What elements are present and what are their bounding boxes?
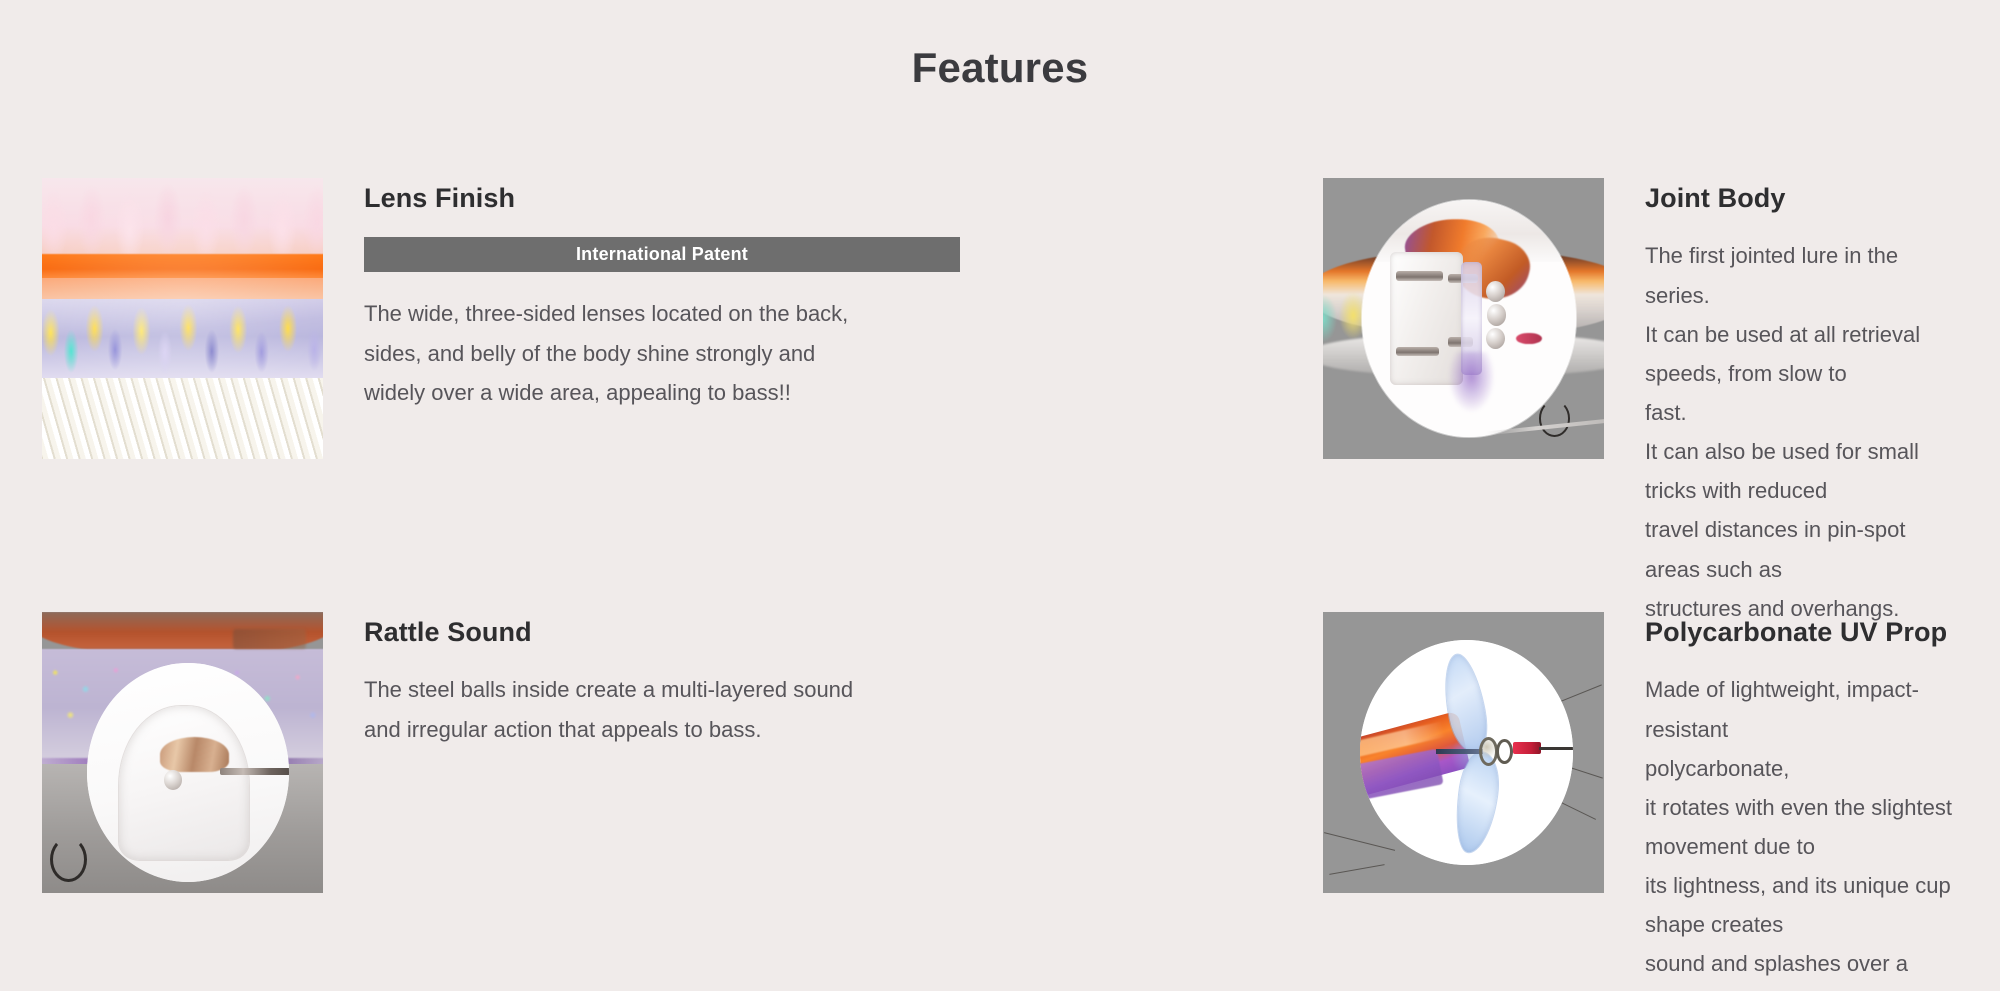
joint-red-marking	[1516, 333, 1542, 345]
feature-card-lens-finish: Lens Finish International Patent The wid…	[42, 178, 1323, 612]
lens-finish-image	[42, 178, 323, 459]
lens-highlight-overlay	[42, 178, 323, 459]
joint-ball	[1486, 281, 1505, 302]
feature-description: The steel balls inside create a multi-la…	[364, 670, 964, 748]
lens-finish-image-inner	[42, 178, 323, 459]
description-line: sides, and belly of the body shine stron…	[364, 334, 964, 373]
description-line: Made of lightweight, impact-resistant	[1645, 670, 1958, 748]
description-line: it rotates with even the slightest movem…	[1645, 788, 1958, 866]
description-line: sound and splashes over a wide area, app…	[1645, 944, 1958, 991]
description-line: It can be used at all retrieval speeds, …	[1645, 315, 1958, 393]
magnifier-circle-icon	[1360, 640, 1574, 865]
features-page: Features Lens Finish International Pate	[0, 0, 2000, 991]
magnifier-circle-icon	[1362, 200, 1576, 436]
swivel-link-icon	[1496, 739, 1513, 764]
rattle-sound-image-inner	[42, 612, 323, 893]
description-line: polycarbonate,	[1645, 749, 1958, 788]
joint-purple-reflection	[1448, 352, 1495, 413]
description-line: travel distances in pin-spot areas such …	[1645, 510, 1958, 588]
steel-balls-cluster	[160, 737, 229, 772]
uv-prop-image-inner	[1323, 612, 1604, 893]
feature-heading: Joint Body	[1645, 182, 1958, 214]
description-line: The wide, three-sided lenses located on …	[364, 294, 964, 333]
joint-body-image-inner	[1323, 178, 1604, 459]
feature-description: Made of lightweight, impact-resistant po…	[1645, 670, 1958, 991]
tail-wire	[1539, 747, 1573, 751]
steel-ball	[164, 770, 182, 790]
feature-heading: Rattle Sound	[364, 616, 1323, 648]
brand-logo-imprint	[233, 629, 306, 649]
red-sleeve	[1513, 742, 1541, 753]
page-title: Features	[0, 44, 2000, 92]
rattle-chamber	[119, 706, 248, 859]
description-line: fast.	[1645, 393, 1958, 432]
description-line: its lightness, and its unique cup shape …	[1645, 866, 1958, 944]
description-line: widely over a wide area, appealing to ba…	[364, 373, 964, 412]
uv-prop-content: Polycarbonate UV Prop Made of lightweigh…	[1645, 612, 1958, 991]
features-grid: Lens Finish International Patent The wid…	[42, 178, 1958, 991]
international-patent-badge: International Patent	[364, 237, 960, 272]
magnifier-content	[1362, 200, 1576, 436]
joint-pin	[1396, 271, 1443, 280]
rattle-sound-content: Rattle Sound The steel balls inside crea…	[364, 612, 1323, 749]
magnifier-circle-icon	[87, 663, 289, 882]
feature-card-polycarbonate-uv-prop: Polycarbonate UV Prop Made of lightweigh…	[1323, 612, 1958, 991]
lens-finish-content: Lens Finish International Patent The wid…	[364, 178, 1323, 412]
feature-description: The wide, three-sided lenses located on …	[364, 294, 964, 411]
joint-body-image	[1323, 178, 1604, 459]
joint-ball	[1486, 328, 1505, 349]
uv-prop-image	[1323, 612, 1604, 893]
description-line: The steel balls inside create a multi-la…	[364, 670, 964, 709]
rattle-sound-image	[42, 612, 323, 893]
joint-pin	[1396, 347, 1439, 356]
joint-body-content: Joint Body The first jointed lure in the…	[1645, 178, 1958, 628]
feature-card-rattle-sound: Rattle Sound The steel balls inside crea…	[42, 612, 1323, 991]
propeller-shaft	[1436, 749, 1483, 754]
magnifier-content	[1360, 640, 1574, 865]
description-line: The first jointed lure in the series.	[1645, 236, 1958, 314]
split-ring-icon	[1539, 400, 1570, 437]
rattle-shaft	[220, 768, 289, 776]
joint-ball	[1487, 304, 1506, 325]
description-line: It can also be used for small tricks wit…	[1645, 432, 1958, 510]
description-line: and irregular action that appeals to bas…	[364, 710, 964, 749]
feature-card-joint-body: Joint Body The first jointed lure in the…	[1323, 178, 1958, 612]
magnifier-content	[87, 663, 289, 882]
feature-heading: Polycarbonate UV Prop	[1645, 616, 1958, 648]
feature-heading: Lens Finish	[364, 182, 1323, 214]
feature-description: The first jointed lure in the series. It…	[1645, 236, 1958, 628]
split-ring-icon	[50, 837, 87, 882]
